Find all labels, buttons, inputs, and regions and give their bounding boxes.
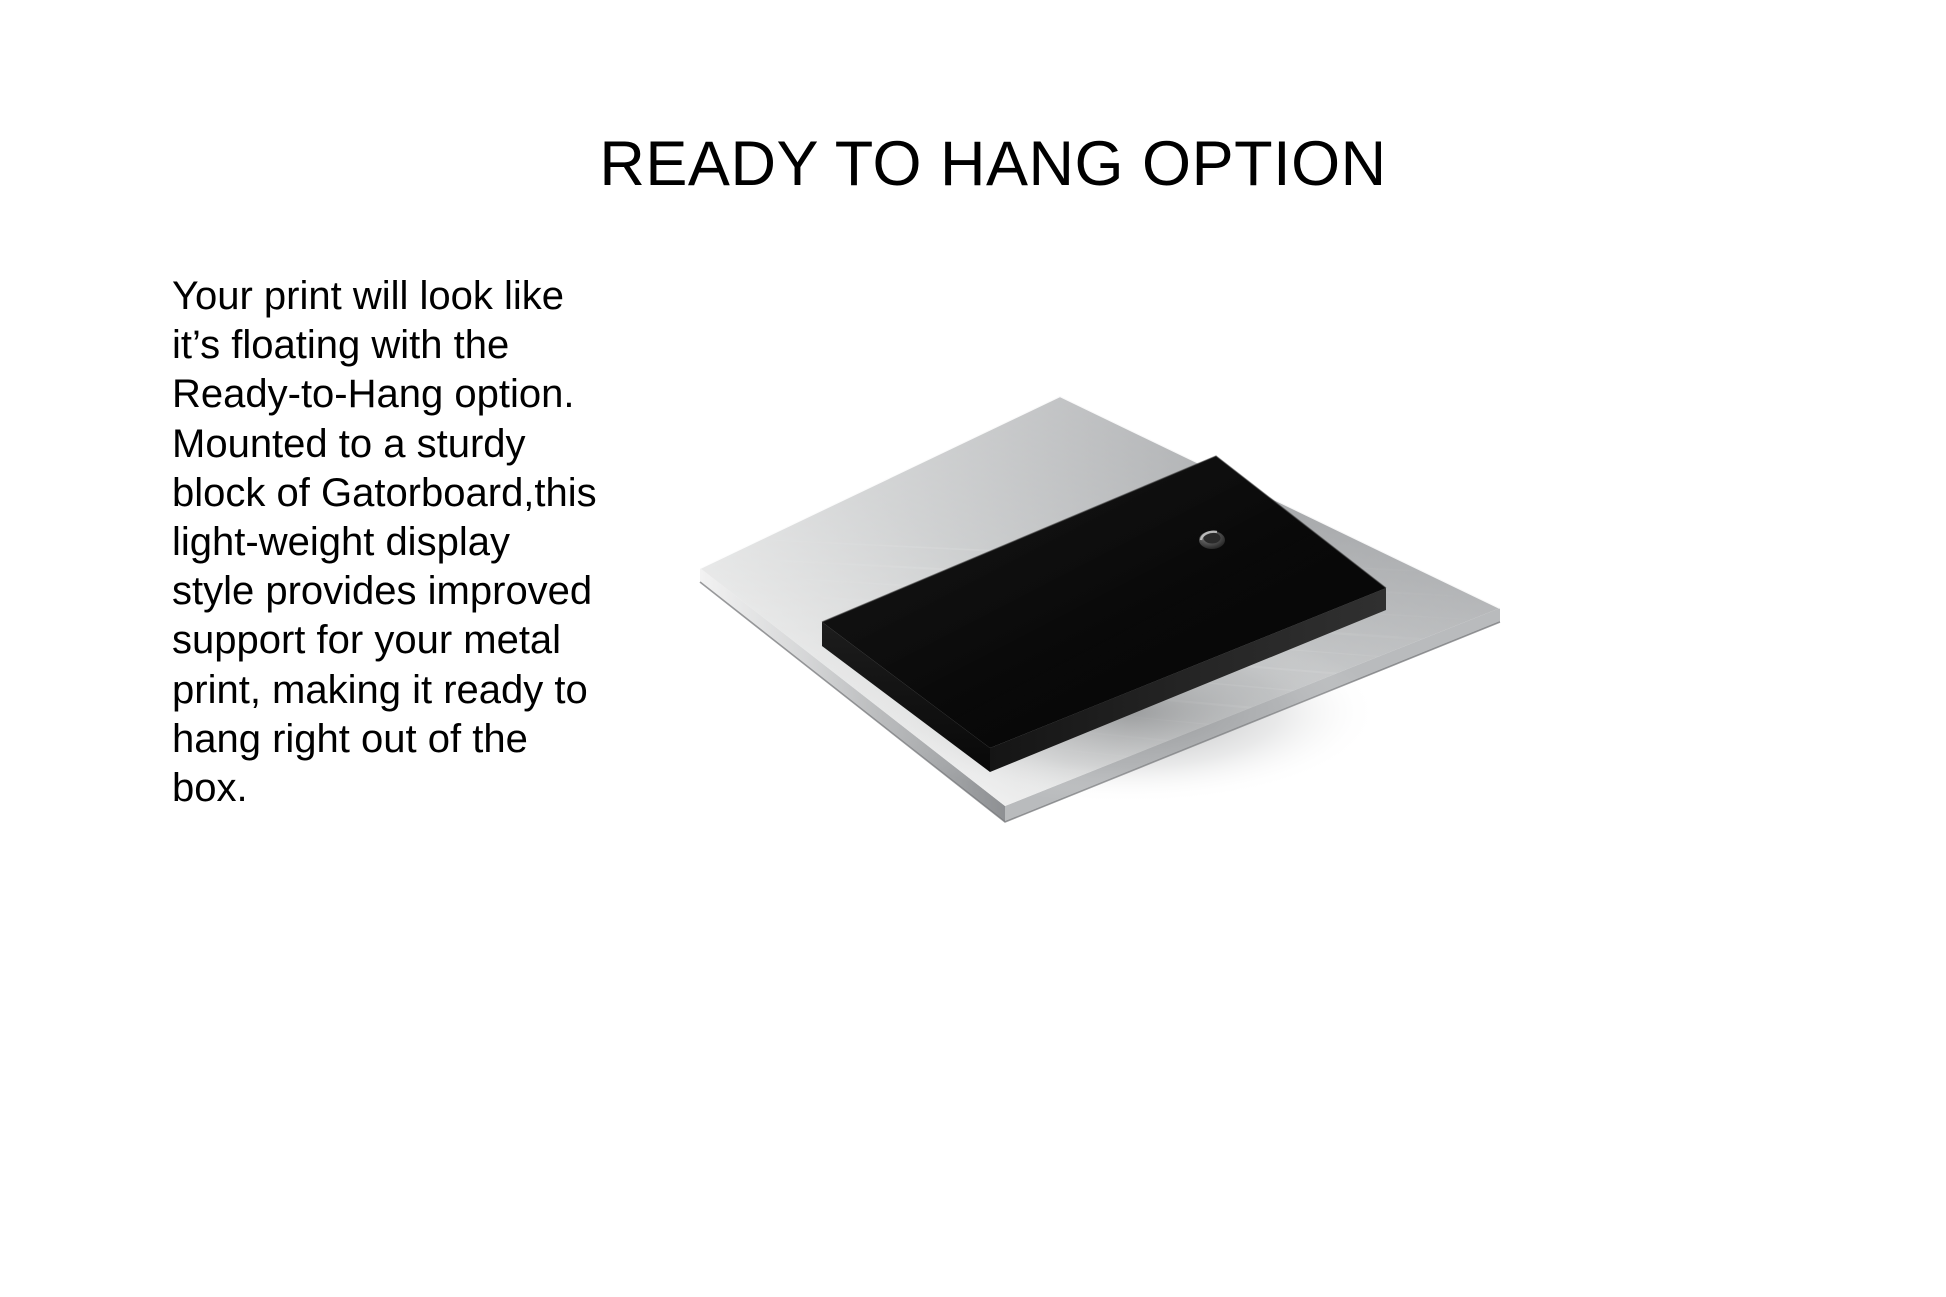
paragraph-line: Your print will look like <box>172 272 604 321</box>
ready-to-hang-product-photo <box>660 360 1540 840</box>
paragraph-line: Ready-to-Hang option. <box>172 370 604 419</box>
description-paragraph: Your print will look like it’s floating … <box>172 272 604 813</box>
paragraph-line: support for your metal <box>172 616 604 665</box>
keyhole-hanger-icon <box>1199 531 1225 549</box>
paragraph-line: light-weight display <box>172 518 604 567</box>
paragraph-line: print, making it ready to <box>172 666 604 715</box>
page-title: READY TO HANG OPTION <box>0 126 1946 202</box>
product-illustration <box>660 360 1540 840</box>
paragraph-line: block of Gatorboard,this <box>172 469 604 518</box>
slide-canvas: READY TO HANG OPTION Your print will loo… <box>0 0 1946 1297</box>
paragraph-line: it’s floating with the <box>172 321 604 370</box>
paragraph-line: Mounted to a sturdy <box>172 420 604 469</box>
paragraph-line: hang right out of the <box>172 715 604 764</box>
paragraph-line: box. <box>172 764 604 813</box>
paragraph-line: style provides improved <box>172 567 604 616</box>
